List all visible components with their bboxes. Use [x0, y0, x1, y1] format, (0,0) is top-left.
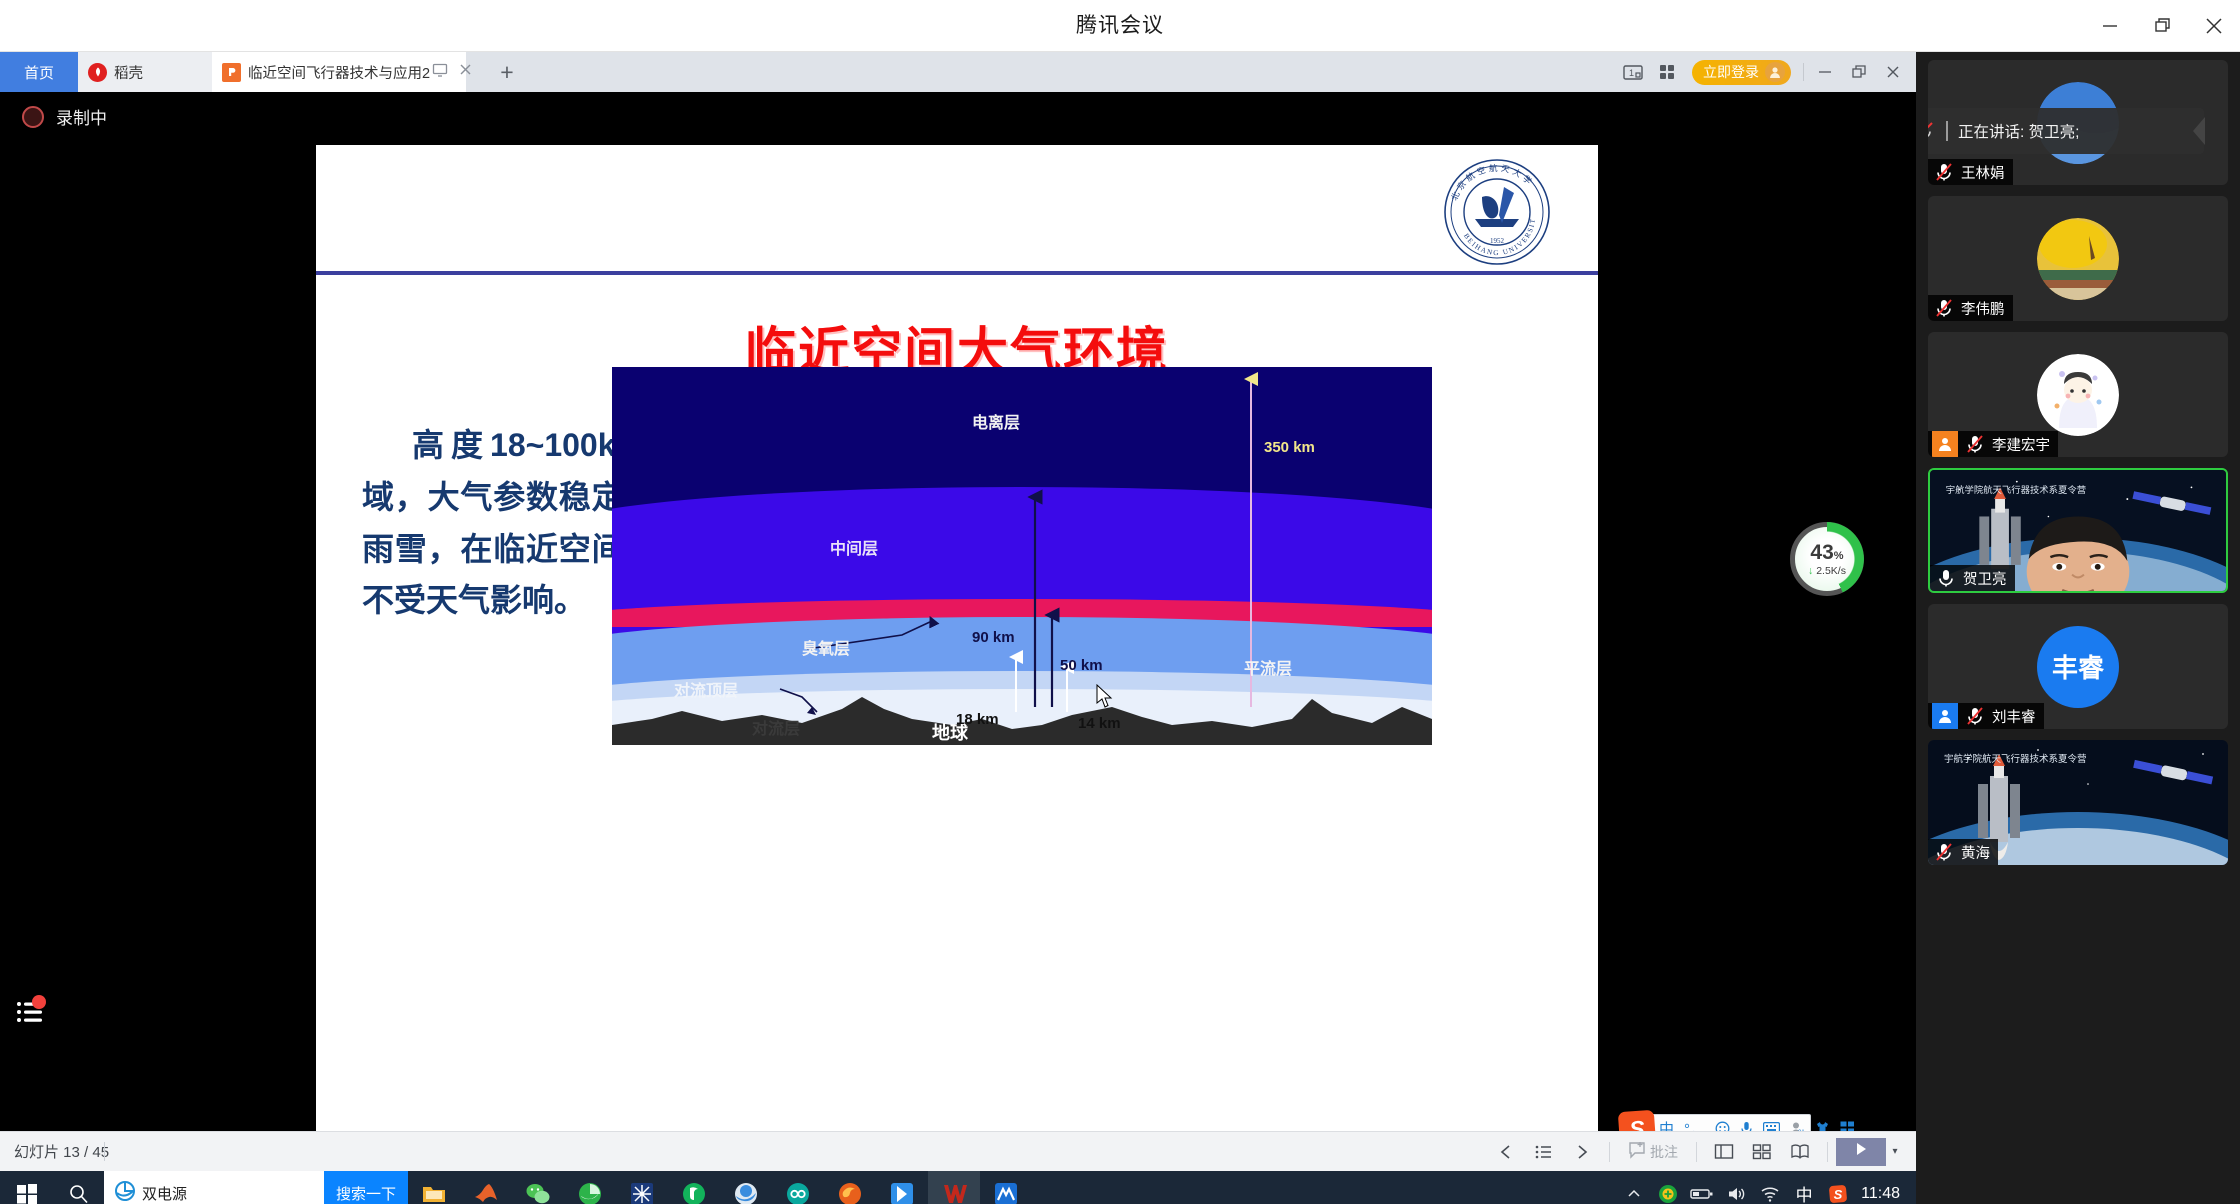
divider [1609, 1142, 1610, 1162]
taskbar-app-endnote[interactable] [616, 1171, 668, 1204]
tencent-pc-manager-icon[interactable] [1651, 1171, 1685, 1204]
user-avatar-icon [1765, 62, 1785, 82]
wps-home-tab[interactable]: 首页 [0, 52, 78, 92]
collapse-arrow-icon[interactable] [2193, 117, 2205, 145]
participant-name-bar: 刘丰睿 [1928, 703, 2044, 729]
svg-text:宇航学院航天飞行器技术系夏令营: 宇航学院航天飞行器技术系夏令营 [1944, 753, 2087, 765]
recording-label: 录制中 [56, 104, 107, 129]
taskbar-app-firefox[interactable] [824, 1171, 876, 1204]
slide-divider [316, 271, 1598, 275]
speaking-toast-text: 正在讲话: 贺卫亮; [1958, 120, 2079, 142]
search-input-value: 双电源 [142, 1183, 187, 1204]
wps-home-tab-label: 首页 [24, 62, 54, 83]
participant-name: 李伟鹏 [1961, 298, 2005, 319]
notification-list-icon[interactable] [12, 992, 50, 1030]
label-troposphere: 对流层 [752, 715, 800, 739]
docer-icon [88, 63, 107, 82]
taskbar-app-buttons [408, 1171, 1032, 1204]
search-go-label: 搜索一下 [336, 1183, 396, 1204]
mic-muted-icon [1932, 160, 1956, 184]
taskbar-app-edge-legacy[interactable] [564, 1171, 616, 1204]
play-icon [1852, 1140, 1870, 1163]
recording-indicator: 录制中 [22, 104, 107, 129]
slide-counter: 幻灯片 13 / 45 [14, 1132, 109, 1171]
wps-tab-actions [432, 52, 473, 92]
taskbar-app-kit[interactable] [876, 1171, 928, 1204]
window-controls [2084, 0, 2240, 52]
participant-tile[interactable]: 丰睿 刘丰睿 [1928, 604, 2228, 729]
slide-stage: 1952 BEIHANG UNIVERSITY 北京航空航天大学 [0, 92, 1916, 1131]
avatar [2037, 354, 2119, 436]
taskbar-app-infinity[interactable] [772, 1171, 824, 1204]
windows-start-icon[interactable] [0, 1171, 54, 1204]
ie-icon [114, 1180, 136, 1204]
progress-ring [1790, 522, 1864, 596]
speaking-toast: 正在讲话: 贺卫亮; [1928, 108, 2204, 154]
login-button[interactable]: 立即登录 [1692, 60, 1791, 85]
participant-name-bar: 王林娟 [1928, 159, 2013, 185]
divider [1696, 1142, 1697, 1162]
participant-name-bar: 黄海 [1928, 839, 1998, 865]
close-tab-icon[interactable] [458, 62, 473, 82]
minimize-icon[interactable] [2084, 0, 2136, 52]
participant-name: 李建宏宇 [1992, 434, 2050, 455]
taskbar-app-tencent-meeting[interactable] [980, 1171, 1032, 1204]
new-tab-label: + [500, 59, 513, 86]
system-tray: 中 S 11:48 [1617, 1171, 1916, 1204]
mic-on-icon [1934, 566, 1958, 590]
normal-view-icon[interactable] [1705, 1132, 1743, 1171]
atmosphere-diagram: 电离层 中间层 臭氧层 平流层 对流顶层 对流层 地球 350 km 90 km… [612, 367, 1432, 745]
taskbar-app-qq-browser[interactable] [668, 1171, 720, 1204]
taskbar-clock[interactable]: 11:48 [1855, 1185, 1910, 1203]
avatar [2037, 218, 2119, 300]
taskbar-row: 双电源 搜索一下 [0, 1171, 1916, 1204]
search-icon[interactable] [54, 1171, 104, 1204]
wps-close-icon[interactable] [1876, 52, 1910, 92]
taskbar-app-matlab[interactable] [460, 1171, 512, 1204]
taskbar-search-input[interactable]: 双电源 [104, 1171, 324, 1204]
participant-tile[interactable]: 李建宏宇 [1928, 332, 2228, 457]
shared-screen-region: 首页 稻壳 临近空间飞行器技术与应用2 [0, 52, 1916, 1204]
marker-50km: 50 km [1060, 657, 1103, 674]
avatar-initials: 丰睿 [2052, 648, 2104, 685]
battery-icon[interactable] [1685, 1171, 1719, 1204]
login-button-label: 立即登录 [1703, 62, 1759, 82]
slide-sorter-icon[interactable] [1743, 1132, 1781, 1171]
sogou-tray-icon[interactable]: S [1821, 1171, 1855, 1204]
wps-tab-presentation-label: 临近空间飞行器技术与应用2 [248, 62, 430, 83]
participant-name-bar: 李建宏宇 [1928, 431, 2058, 457]
single-page-view-icon[interactable]: 1 [1616, 52, 1650, 92]
mic-muted-icon [1932, 840, 1956, 864]
marker-350km: 350 km [1264, 439, 1315, 456]
label-ozone: 臭氧层 [802, 635, 850, 659]
add-comment-button[interactable]: 批注 [1618, 1141, 1688, 1162]
wps-tab-docer-label: 稻壳 [114, 62, 143, 83]
slide-canvas[interactable]: 1952 BEIHANG UNIVERSITY 北京航空航天大学 [316, 145, 1598, 1138]
app-titlebar: 腾讯会议 [0, 0, 2240, 52]
participants-panel: 王林娟 正在讲话: 贺卫亮; [1916, 52, 2240, 1204]
wps-presentation-window: 首页 稻壳 临近空间飞行器技术与应用2 [0, 52, 1916, 1171]
network-speed-widget[interactable]: 43% ↓ 2.5K/s [1790, 522, 1864, 596]
slideshow-options-caret[interactable]: ▾ [1886, 1146, 1904, 1157]
participant-name: 刘丰睿 [1992, 706, 2036, 727]
close-icon[interactable] [2188, 0, 2240, 52]
ppt-file-icon [222, 63, 241, 82]
chevron-right-icon[interactable] [1563, 1132, 1601, 1171]
chevron-up-icon[interactable] [1617, 1171, 1651, 1204]
divider [104, 1142, 105, 1161]
participant-name: 黄海 [1961, 842, 1990, 863]
record-dot-icon [22, 106, 44, 128]
wps-titlebar-actions: 1 立即登录 [1616, 52, 1916, 92]
participant-tile[interactable]: 李伟鹏 [1928, 196, 2228, 321]
mic-muted-icon [1963, 432, 1987, 456]
present-to-monitor-icon[interactable] [432, 62, 448, 83]
ime-language-icon[interactable]: 中 [1787, 1171, 1821, 1204]
mic-muted-icon [1928, 119, 1936, 143]
taskbar-app-wps[interactable] [928, 1171, 980, 1204]
taskbar-app-wechat[interactable] [512, 1171, 564, 1204]
label-stratosphere: 平流层 [1244, 655, 1292, 679]
marker-90km: 90 km [972, 629, 1015, 646]
divider [1803, 63, 1804, 81]
participant-name: 王林娟 [1961, 162, 2005, 183]
mic-muted-icon [1932, 296, 1956, 320]
wps-tab-docer[interactable]: 稻壳 [78, 52, 212, 92]
svg-text:北京航空航天大学: 北京航空航天大学 [1449, 163, 1536, 202]
avatar: 丰睿 [2037, 626, 2119, 708]
reading-view-icon[interactable] [1781, 1132, 1819, 1171]
label-mesosphere: 中间层 [830, 535, 878, 559]
orange-person-icon [1932, 431, 1958, 457]
participant-tile[interactable]: 王林娟 正在讲话: 贺卫亮; [1928, 60, 2228, 185]
mic-muted-icon [1963, 704, 1987, 728]
participant-tile[interactable]: 宇航学院航天飞行器技术系夏令营 黄海 [1928, 740, 2228, 865]
taskbar-app-file-explorer[interactable] [408, 1171, 460, 1204]
divider [1827, 1142, 1828, 1162]
svg-text:S: S [1834, 1187, 1843, 1202]
marker-18km: 18 km [956, 711, 999, 728]
add-comment-icon [1628, 1141, 1646, 1162]
label-tropopause: 对流顶层 [674, 677, 738, 701]
participant-name-bar: 李伟鹏 [1928, 295, 2013, 321]
label-ionosphere: 电离层 [972, 409, 1020, 433]
wifi-icon[interactable] [1753, 1171, 1787, 1204]
new-tab-button[interactable]: + [490, 52, 524, 92]
add-comment-label: 批注 [1650, 1142, 1678, 1162]
participant-tile[interactable]: 宇航学院航天飞行器技术系夏令营 贺卫亮 [1928, 468, 2228, 593]
svg-text:1: 1 [1629, 68, 1634, 78]
wps-restore-icon[interactable] [1842, 52, 1876, 92]
chevron-left-icon[interactable] [1487, 1132, 1525, 1171]
svg-text:宇航学院航天飞行器技术系夏令营: 宇航学院航天飞行器技术系夏令营 [1946, 484, 2086, 496]
wps-tab-bar: 首页 稻壳 临近空间飞行器技术与应用2 [0, 52, 1916, 92]
grid-view-icon[interactable] [1650, 52, 1684, 92]
restore-icon[interactable] [2136, 0, 2188, 52]
beihang-university-logo: 1952 BEIHANG UNIVERSITY 北京航空航天大学 [1442, 157, 1552, 267]
divider [1946, 121, 1948, 141]
slide-list-icon[interactable] [1525, 1132, 1563, 1171]
wps-status-bar: 幻灯片 13 / 45 [0, 1131, 1916, 1171]
app-title: 腾讯会议 [0, 0, 2240, 52]
svg-text:1952: 1952 [1490, 237, 1505, 245]
participant-name-bar: 贺卫亮 [1930, 565, 2015, 591]
wps-tab-presentation[interactable]: 临近空间飞行器技术与应用2 [212, 52, 466, 92]
search-go-button[interactable]: 搜索一下 [324, 1171, 408, 1204]
status-bar-actions: 批注 [1487, 1132, 1904, 1171]
start-slideshow-button[interactable] [1836, 1138, 1886, 1166]
marker-14km: 14 km [1078, 715, 1121, 732]
taskbar-app-ie[interactable] [720, 1171, 772, 1204]
wps-minimize-icon[interactable] [1808, 52, 1842, 92]
volume-icon[interactable] [1719, 1171, 1753, 1204]
windows-taskbar: 双电源 搜索一下 [0, 1171, 1916, 1204]
participant-name: 贺卫亮 [1963, 568, 2007, 589]
blue-person-icon [1932, 703, 1958, 729]
